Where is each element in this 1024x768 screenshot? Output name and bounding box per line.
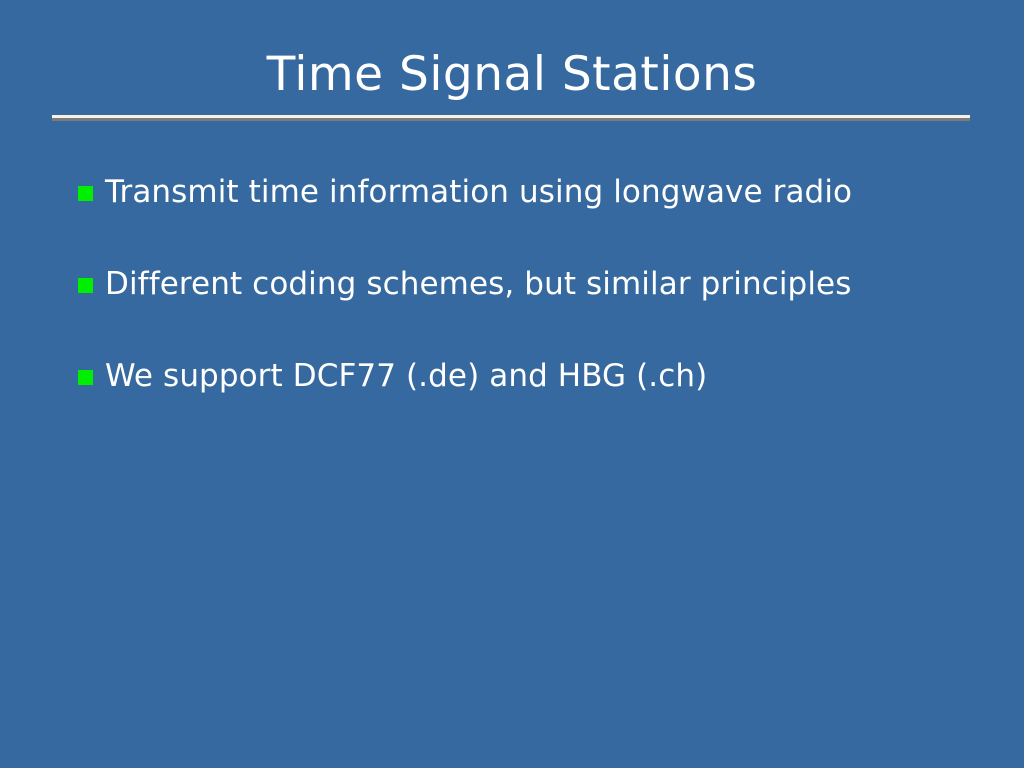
list-item-label: We support DCF77 (.de) and HBG (.ch) [105, 356, 978, 396]
green-square-bullet-icon [78, 186, 93, 201]
slide-title-block: Time Signal Stations [0, 48, 1024, 102]
green-square-bullet-icon [78, 370, 93, 385]
title-divider-shadow [52, 118, 970, 121]
list-item-label: Different coding schemes, but similar pr… [105, 264, 978, 304]
list-item: Different coding schemes, but similar pr… [78, 264, 978, 356]
presentation-slide: Time Signal Stations Transmit time infor… [0, 0, 1024, 768]
page-title: Time Signal Stations [0, 48, 1024, 102]
bullet-list: Transmit time information using longwave… [78, 172, 978, 448]
list-item: Transmit time information using longwave… [78, 172, 978, 264]
list-item: We support DCF77 (.de) and HBG (.ch) [78, 356, 978, 448]
green-square-bullet-icon [78, 278, 93, 293]
list-item-label: Transmit time information using longwave… [105, 172, 978, 212]
title-divider-rule [52, 115, 970, 121]
